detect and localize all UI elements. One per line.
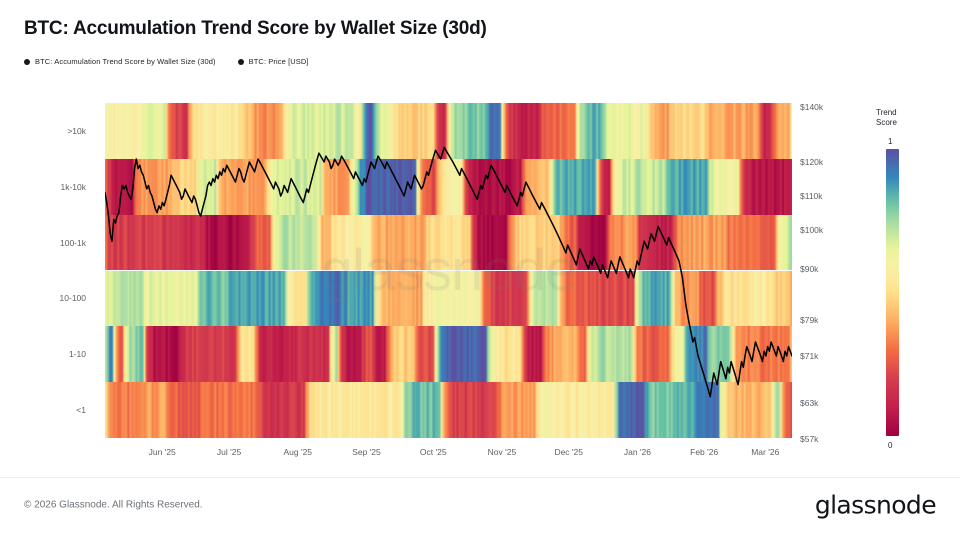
colorbar-gradient [886,149,899,436]
legend-dot-icon [24,59,30,65]
y-tick-10-100: 10-100 [0,293,96,303]
x-axis-dates: Jun '25Jul '25Aug '25Sep '25Oct '25Nov '… [105,447,792,465]
y-tick-1-10: 1-10 [0,349,96,359]
x-tick-Jul25: Jul '25 [217,447,241,457]
colorbar: Trend Score 1 0 [876,108,936,448]
chart-root: BTC: Accumulation Trend Score by Wallet … [0,0,960,540]
y-tick-1: <1 [0,405,96,415]
price-line-path [105,147,792,396]
price-tick-110k: $110k [800,191,823,201]
x-tick-Feb26: Feb '26 [690,447,718,457]
footer-divider [0,477,960,478]
colorbar-title: Trend Score [876,108,897,128]
y-tick-100-1k: 100-1k [0,238,96,248]
y-axis-wallet-size: >10k1k-10k100-1k10-1001-10<1 [0,103,96,438]
legend-item-price[interactable]: BTC: Price [USD] [238,57,309,66]
legend: BTC: Accumulation Trend Score by Wallet … [24,57,309,66]
copyright-text: © 2026 Glassnode. All Rights Reserved. [24,500,203,511]
legend-item-trend-score[interactable]: BTC: Accumulation Trend Score by Wallet … [24,57,216,66]
price-tick-140k: $140k [800,102,823,112]
y-tick-10k: >10k [0,126,96,136]
x-tick-Sep25: Sep '25 [352,447,381,457]
plot-area[interactable]: glassnode [105,103,792,438]
x-tick-Jun25: Jun '25 [149,447,176,457]
x-tick-Nov25: Nov '25 [488,447,517,457]
colorbar-max-label: 1 [888,137,892,146]
price-tick-71k: $71k [800,351,818,361]
x-tick-Dec25: Dec '25 [554,447,583,457]
page-title: BTC: Accumulation Trend Score by Wallet … [24,18,487,40]
x-tick-Jan26: Jan '26 [624,447,651,457]
y-tick-1k-10k: 1k-10k [0,182,96,192]
glassnode-logo: glassnode [815,491,936,520]
price-tick-79k: $79k [800,315,818,325]
price-tick-120k: $120k [800,157,823,167]
x-tick-Aug25: Aug '25 [283,447,312,457]
price-tick-100k: $100k [800,225,823,235]
y-axis-price: $140k$120k$110k$100k$90k$79k$71k$63k$57k [800,103,870,438]
price-tick-90k: $90k [800,264,818,274]
price-tick-63k: $63k [800,398,818,408]
price-tick-57k: $57k [800,434,818,444]
x-tick-Oct25: Oct '25 [420,447,447,457]
legend-dot-icon [238,59,244,65]
x-tick-Mar26: Mar '26 [751,447,779,457]
legend-label-price: BTC: Price [USD] [249,57,309,66]
legend-label-trend-score: BTC: Accumulation Trend Score by Wallet … [35,57,216,66]
colorbar-min-label: 0 [888,441,892,450]
price-line-chart [105,103,792,438]
